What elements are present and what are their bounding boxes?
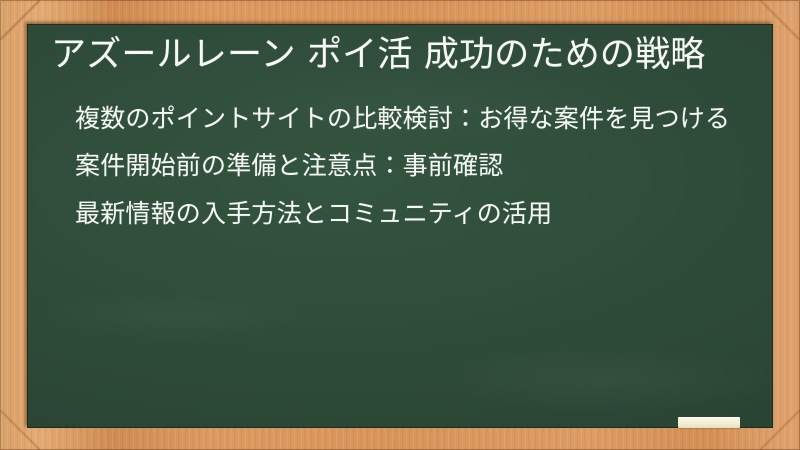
list-item: 最新情報の入手方法とコミュニティの活用 — [49, 196, 751, 232]
page-title: アズールレーン ポイ活 成功のための戦略 — [49, 32, 751, 79]
list-item: 複数のポイントサイトの比較検討：お得な案件を見つける — [49, 101, 751, 137]
chalkboard: アズールレーン ポイ活 成功のための戦略 複数のポイントサイトの比較検討：お得な… — [27, 24, 773, 428]
chalk-stick — [678, 417, 740, 428]
blackboard-title-card: アズールレーン ポイ活 成功のための戦略 複数のポイントサイトの比較検討：お得な… — [0, 0, 800, 450]
chalkboard-content: アズールレーン ポイ活 成功のための戦略 複数のポイントサイトの比較検討：お得な… — [27, 24, 773, 428]
list-item: 案件開始前の準備と注意点：事前確認 — [49, 148, 751, 184]
topic-list: 複数のポイントサイトの比較検討：お得な案件を見つける 案件開始前の準備と注意点：… — [49, 101, 751, 232]
